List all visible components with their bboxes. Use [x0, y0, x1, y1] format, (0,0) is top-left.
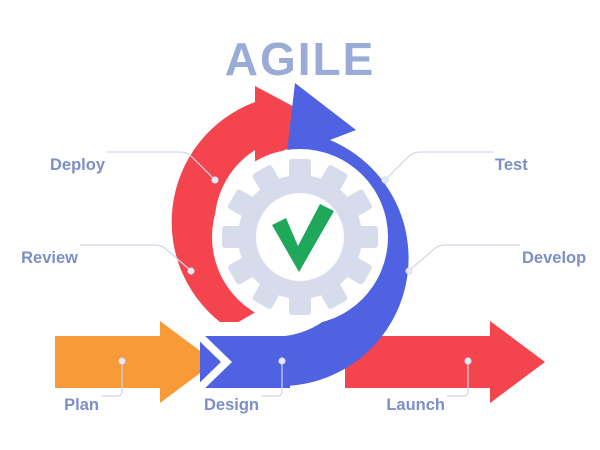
connector-dot-launch — [465, 358, 471, 364]
label-deploy: Deploy — [50, 156, 106, 174]
label-test: Test — [495, 156, 528, 174]
connector-dot-design — [279, 358, 285, 364]
connector-dot-review — [188, 268, 194, 274]
label-plan: Plan — [64, 396, 99, 414]
connector-test — [387, 152, 493, 178]
connector-dot-develop — [406, 268, 412, 274]
page-title: AGILE — [225, 33, 376, 85]
plan-arrow — [55, 321, 215, 403]
connector-dot-plan — [119, 358, 125, 364]
agile-infographic: AGILE — [0, 0, 600, 450]
label-design: Design — [204, 396, 259, 414]
label-review: Review — [21, 249, 78, 267]
connector-review — [80, 245, 189, 269]
connector-dot-test — [382, 177, 388, 183]
connector-dot-deploy — [212, 177, 218, 183]
label-develop: Develop — [522, 249, 586, 267]
connector-develop — [411, 245, 520, 269]
label-launch: Launch — [386, 396, 445, 414]
